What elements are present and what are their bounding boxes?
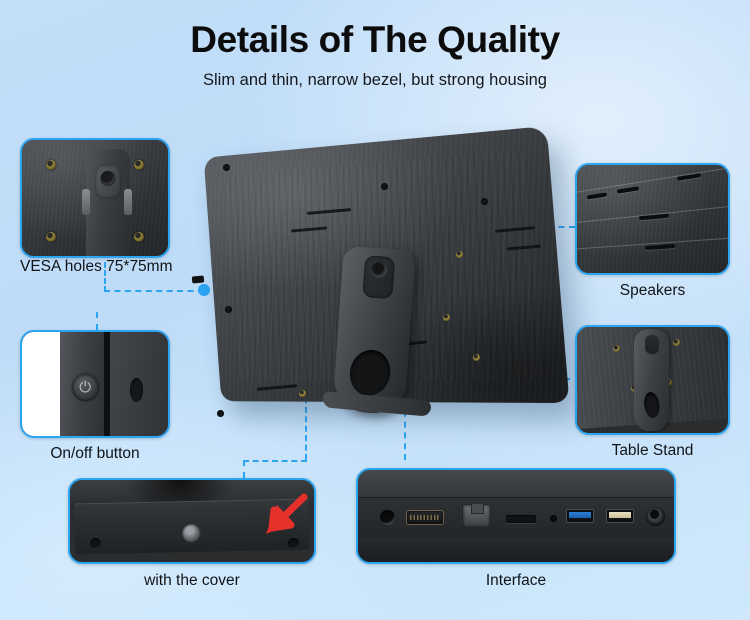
callout-label-vesa: VESA holes 75*75mm	[20, 258, 200, 276]
kickstand-cutout	[642, 391, 661, 419]
interface-lower-housing	[358, 538, 674, 562]
interface-upper-housing	[358, 470, 674, 498]
vesa-hole	[134, 160, 144, 170]
callout-panel-cover[interactable]	[68, 478, 316, 564]
callout-panel-speakers[interactable]	[575, 163, 730, 275]
housing-hole	[481, 198, 488, 205]
callout-panel-interface[interactable]	[356, 468, 676, 564]
red-arrow-icon	[246, 492, 308, 536]
housing-hole	[381, 183, 388, 190]
power-button[interactable]: ⏻	[72, 374, 99, 401]
vesa-hole	[46, 232, 56, 242]
vesa-clip	[124, 189, 132, 215]
callout-panel-vesa[interactable]	[20, 138, 170, 258]
connector-line-cover	[243, 460, 307, 462]
background-fill	[22, 332, 60, 436]
card-slot-port[interactable]	[506, 515, 536, 523]
dc-power-port[interactable]	[646, 507, 665, 526]
vesa-screw	[456, 251, 463, 258]
cover-screw-hole	[90, 538, 101, 549]
reset-pinhole[interactable]	[550, 515, 557, 522]
housing-hole	[223, 164, 230, 171]
hdmi-port[interactable]	[406, 510, 444, 525]
header: Details of The Quality Slim and thin, na…	[0, 20, 750, 90]
indicator-slot	[130, 378, 143, 402]
usb2-port[interactable]	[606, 509, 634, 523]
page-subtitle: Slim and thin, narrow bezel, but strong …	[0, 71, 750, 90]
infographic-canvas: Details of The Quality Slim and thin, na…	[0, 0, 750, 620]
callout-label-stand: Table Stand	[575, 442, 730, 460]
vesa-screw	[443, 314, 450, 321]
product-kickstand	[332, 246, 415, 416]
product-image	[195, 128, 575, 423]
power-symbol-icon: ⏻	[79, 380, 91, 395]
connector-line-power	[96, 312, 98, 330]
ethernet-port[interactable]	[462, 504, 491, 528]
callout-label-speakers: Speakers	[575, 282, 730, 300]
usb3-port[interactable]	[566, 509, 594, 523]
kickstand	[634, 329, 669, 431]
callout-label-interface: Interface	[356, 572, 676, 590]
callout-panel-stand[interactable]	[575, 325, 730, 435]
callout-label-cover: with the cover	[68, 572, 316, 590]
connector-line-vesa	[104, 290, 204, 292]
callout-label-power: On/off button	[20, 445, 170, 463]
page-title: Details of The Quality	[0, 20, 750, 61]
vesa-screw	[299, 390, 306, 397]
vesa-clip	[82, 189, 90, 215]
vesa-hole	[134, 232, 144, 242]
connector-line-cover-drop	[243, 460, 245, 478]
vesa-screw	[613, 345, 620, 352]
vesa-hinge	[95, 165, 121, 199]
kickstand-cutout	[345, 346, 395, 400]
vesa-screw	[473, 354, 480, 361]
cover-screw-hole	[288, 538, 299, 549]
vesa-hole	[46, 160, 56, 170]
housing-hole	[225, 306, 232, 313]
vesa-screw	[673, 339, 680, 346]
kickstand-hinge	[363, 255, 396, 299]
housing-hole	[217, 410, 224, 417]
callout-panel-power[interactable]: ⏻	[20, 330, 170, 438]
audio-jack-port[interactable]	[380, 510, 395, 525]
side-port	[192, 275, 205, 283]
